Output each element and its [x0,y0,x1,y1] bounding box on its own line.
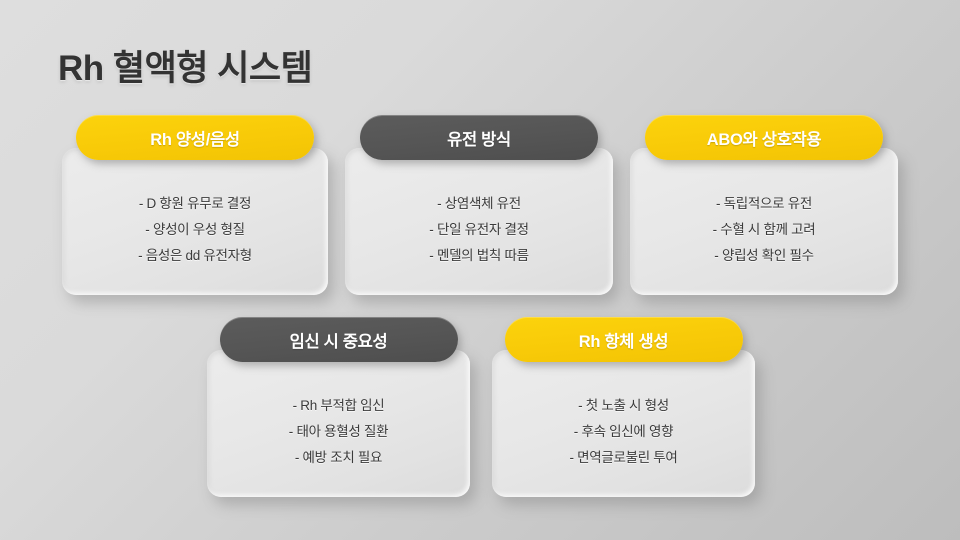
list-item: - 첫 노출 시 형성 [578,396,669,417]
list-item: - 후속 임신에 영향 [574,422,673,443]
list-item: - 수혈 시 함께 고려 [713,220,816,241]
card-header-label[interactable]: ABO와 상호작용 [645,115,883,160]
page-title: Rh 혈액형 시스템 [58,40,312,91]
list-item: - Rh 부적합 임신 [293,396,385,417]
card-header-label[interactable]: 유전 방식 [360,115,598,160]
list-item: - 양성이 우성 형질 [145,220,244,241]
card-body: - Rh 부적합 임신 - 태아 용혈성 질환 - 예방 조치 필요 [207,350,470,497]
list-item: - 양립성 확인 필수 [714,246,813,267]
card-item-list: - D 항원 유무로 결정 - 양성이 우성 형질 - 음성은 dd 유전자형 [62,194,328,267]
list-item: - 예방 조치 필요 [295,448,382,469]
card-item-list: - 독립적으로 유전 - 수혈 시 함께 고려 - 양립성 확인 필수 [630,194,898,267]
list-item: - 독립적으로 유전 [716,194,812,215]
list-item: - 음성은 dd 유전자형 [138,246,252,267]
list-item: - 면역글로불린 투여 [569,448,677,469]
list-item: - 단일 유전자 결정 [429,220,528,241]
card-item-list: - 상염색체 유전 - 단일 유전자 결정 - 멘델의 법칙 따름 [345,194,613,267]
card-body: - 독립적으로 유전 - 수혈 시 함께 고려 - 양립성 확인 필수 [630,148,898,295]
card-body: - D 항원 유무로 결정 - 양성이 우성 형질 - 음성은 dd 유전자형 [62,148,328,295]
card-header-label[interactable]: 임신 시 중요성 [220,317,458,362]
list-item: - D 항원 유무로 결정 [139,194,251,215]
slide-canvas: Rh 혈액형 시스템 - D 항원 유무로 결정 - 양성이 우성 형질 - 음… [0,0,960,540]
card-body: - 첫 노출 시 형성 - 후속 임신에 영향 - 면역글로불린 투여 [492,350,755,497]
card-body: - 상염색체 유전 - 단일 유전자 결정 - 멘델의 법칙 따름 [345,148,613,295]
list-item: - 상염색체 유전 [437,194,521,215]
card-item-list: - Rh 부적합 임신 - 태아 용혈성 질환 - 예방 조치 필요 [207,396,470,469]
list-item: - 멘델의 법칙 따름 [429,246,528,267]
card-header-label[interactable]: Rh 항체 생성 [505,317,743,362]
list-item: - 태아 용혈성 질환 [289,422,388,443]
card-header-label[interactable]: Rh 양성/음성 [76,115,314,160]
card-item-list: - 첫 노출 시 형성 - 후속 임신에 영향 - 면역글로불린 투여 [492,396,755,469]
